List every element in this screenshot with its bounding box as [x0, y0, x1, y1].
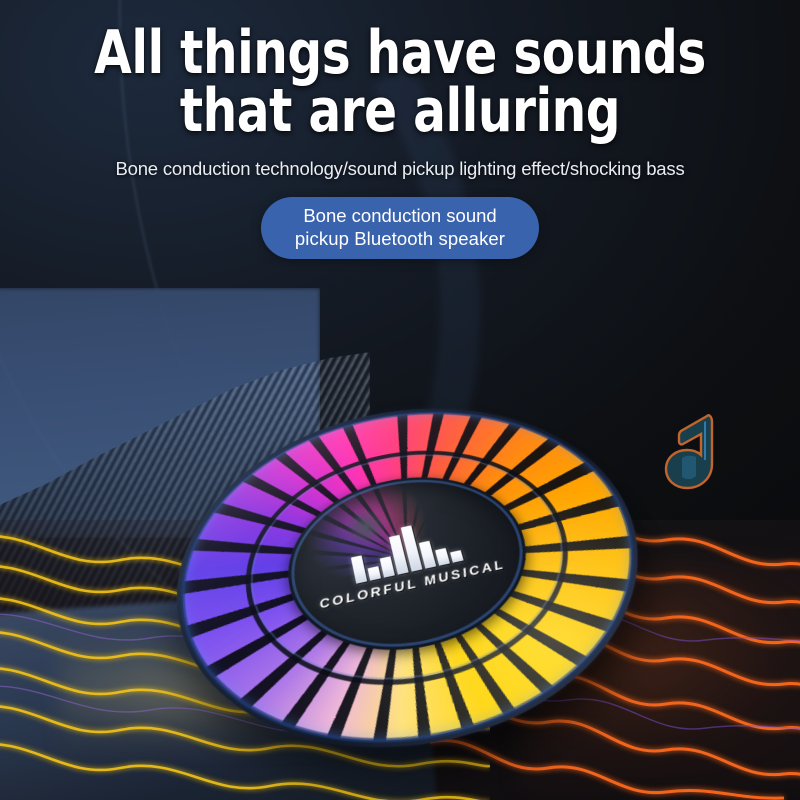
headline-line-2: that are alluring	[40, 82, 760, 140]
advertisement-canvas: COLORFUL MUSICAL All things have sounds …	[0, 0, 800, 800]
product-name-badge[interactable]: Bone conduction sound pickup Bluetooth s…	[261, 197, 539, 259]
headline-line-1: All things have sounds	[40, 24, 760, 82]
hero-copy-block: All things have sounds that are alluring…	[0, 0, 800, 259]
page-title: All things have sounds that are alluring	[40, 0, 760, 140]
music-note-icon	[652, 408, 748, 512]
feature-subtitle: Bone conduction technology/sound pickup …	[0, 158, 800, 180]
badge-line-1: Bone conduction sound	[295, 204, 505, 227]
bluetooth-speaker-product[interactable]: COLORFUL MUSICAL	[164, 355, 660, 769]
badge-line-2: pickup Bluetooth speaker	[295, 227, 505, 250]
